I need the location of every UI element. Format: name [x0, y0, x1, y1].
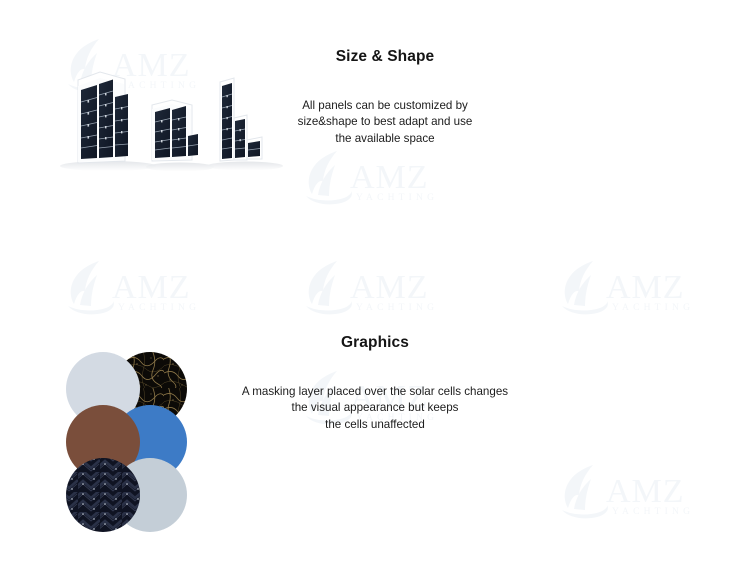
- body-line: A masking layer placed over the solar ce…: [215, 384, 535, 400]
- svg-text:AMZ: AMZ: [350, 159, 429, 196]
- body-line: the available space: [285, 131, 485, 147]
- body-line: the cells unaffected: [215, 417, 535, 433]
- masking-layer-swatches-illustration: [56, 352, 196, 542]
- watermark-logo: AMZ YACHTING: [556, 258, 726, 316]
- body-line: All panels can be customized by: [285, 98, 485, 114]
- svg-text:AMZ: AMZ: [350, 269, 429, 306]
- svg-text:YACHTING: YACHTING: [612, 303, 694, 313]
- solar-panel-array-illustration: [40, 48, 290, 173]
- watermark-logo: AMZ YACHTING: [300, 148, 470, 206]
- panel-staircase: [220, 78, 262, 161]
- svg-text:YACHTING: YACHTING: [612, 507, 694, 517]
- svg-text:AMZ: AMZ: [606, 473, 685, 510]
- watermark-logo: AMZ YACHTING: [62, 258, 232, 316]
- section-body-size-and-shape: All panels can be customized by size&sha…: [285, 98, 485, 147]
- watermark-logo: AMZ YACHTING: [556, 462, 726, 520]
- svg-text:AMZ: AMZ: [112, 269, 191, 306]
- watermark-logo: AMZ YACHTING: [300, 258, 470, 316]
- slide-canvas: AMZ YACHTING AMZ YACHTING: [0, 0, 750, 563]
- body-line: the visual appearance but keeps: [215, 400, 535, 416]
- section-body-graphics: A masking layer placed over the solar ce…: [215, 384, 535, 433]
- svg-text:YACHTING: YACHTING: [356, 303, 438, 313]
- svg-text:YACHTING: YACHTING: [118, 303, 200, 313]
- panel-medium-stepped: [152, 100, 198, 161]
- panel-tall-stepped: [78, 72, 128, 163]
- page-title-size-and-shape: Size & Shape: [285, 48, 485, 66]
- svg-text:AMZ: AMZ: [606, 269, 685, 306]
- body-line: size&shape to best adapt and use: [285, 114, 485, 130]
- page-title-graphics: Graphics: [215, 334, 535, 352]
- section-graphics: Graphics A masking layer placed over the…: [215, 334, 535, 433]
- section-size-and-shape: Size & Shape All panels can be customize…: [285, 48, 485, 147]
- svg-text:YACHTING: YACHTING: [356, 193, 438, 203]
- swatch-navy-chevron: [66, 458, 140, 532]
